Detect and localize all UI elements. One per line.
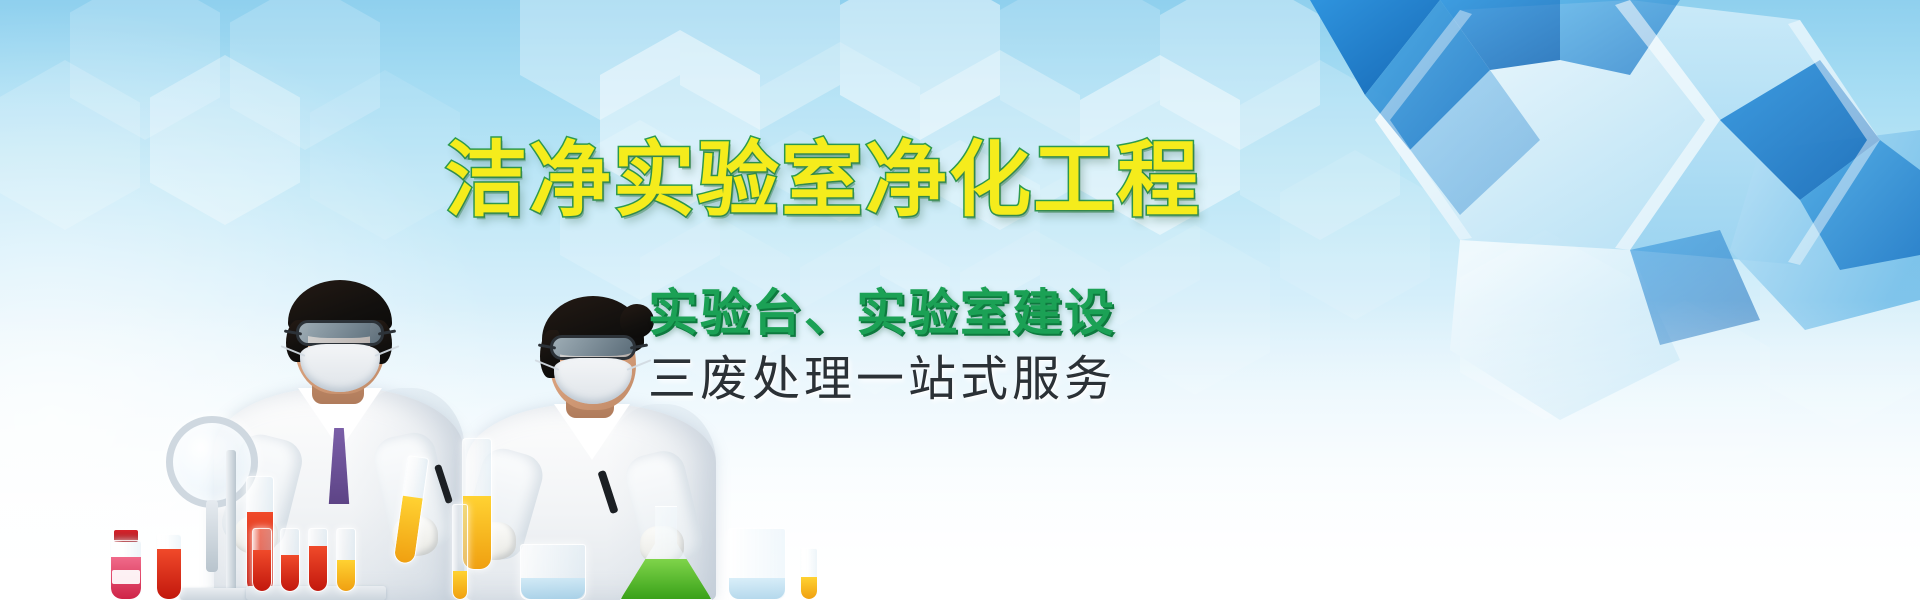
pipette	[452, 504, 468, 600]
erlenmeyer-flask-green	[620, 506, 712, 600]
beaker-clear	[520, 544, 586, 600]
crystal-polygon-graphic	[1160, 0, 1920, 470]
safety-goggles	[550, 335, 636, 360]
promotional-banner: 洁净实验室净化工程 实验台、实验室建设 三废处理一站式服务	[0, 0, 1920, 600]
bottle-label	[112, 570, 140, 584]
rack-tube-4	[336, 528, 356, 592]
test-tube-slim	[800, 548, 818, 600]
glassware-row-bottom	[100, 470, 900, 600]
rack-tube-2	[280, 528, 300, 592]
test-tube-red-2	[156, 534, 182, 600]
rack-tube-1	[252, 528, 272, 592]
rack-tube-3	[308, 528, 328, 592]
safety-goggles	[296, 320, 384, 346]
laboratory-scene	[0, 270, 900, 600]
headline: 洁净实验室净化工程	[445, 140, 1201, 222]
beaker-tall	[728, 528, 786, 600]
hair-bun	[620, 304, 654, 338]
